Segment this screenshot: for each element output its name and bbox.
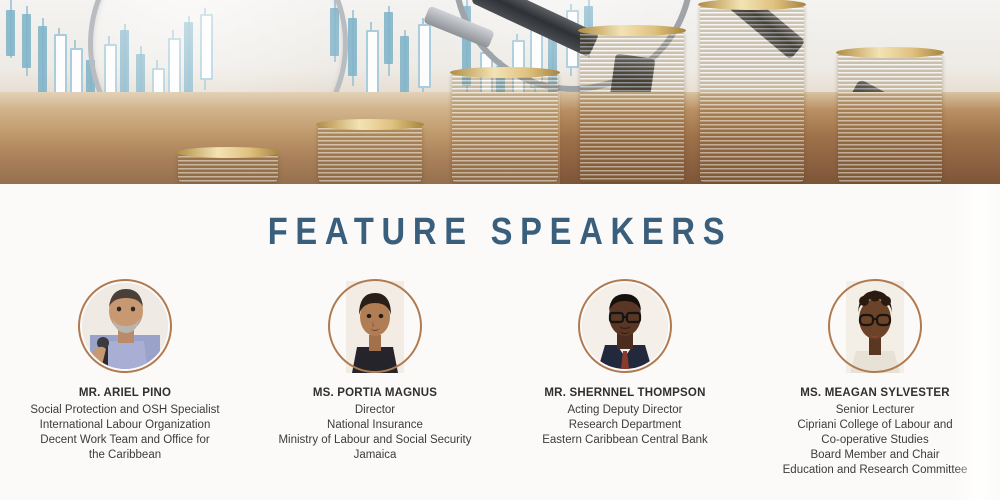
speaker-name: MR. SHERNNEL THOMPSON <box>503 386 748 401</box>
portrait-portia-magnus <box>346 281 404 373</box>
speaker-affiliation-line: Co-operative Studies <box>753 433 998 448</box>
speaker-affiliation-line: International Labour Organization <box>3 418 248 433</box>
speaker-affiliation-line: the Caribbean <box>3 448 248 463</box>
speaker-affiliation-line: Senior Lecturer <box>753 403 998 418</box>
speaker-affiliation-line: Eastern Caribbean Central Bank <box>503 433 748 448</box>
speaker-affiliation-line: Research Department <box>503 418 748 433</box>
page-title: FEATURE SPEAKERS <box>70 211 930 254</box>
speaker-affiliation-line: Social Protection and OSH Specialist <box>3 403 248 418</box>
speakers-list: MR. ARIEL PINO Social Protection and OSH… <box>0 279 1000 478</box>
portrait-ariel-pino <box>82 283 168 369</box>
speaker-affiliation-line: Ministry of Labour and Social Security <box>253 433 498 448</box>
avatar <box>328 279 422 373</box>
speaker-affiliation-line: Jamaica <box>253 448 498 463</box>
speaker-affiliation: Director National Insurance Ministry of … <box>253 403 498 463</box>
speaker-affiliation: Senior Lecturer Cipriani College of Labo… <box>753 403 998 478</box>
coin-stack-icon <box>580 30 684 182</box>
speaker-affiliation-line: Board Member and Chair <box>753 448 998 463</box>
content-area: FEATURE SPEAKERS <box>0 184 1000 500</box>
feature-speakers-poster: FEATURE SPEAKERS <box>0 0 1000 500</box>
speaker-affiliation: Acting Deputy Director Research Departme… <box>503 403 748 448</box>
speaker-affiliation-line: Education and Research Committee <box>753 463 998 478</box>
portrait-shernnel-thompson <box>582 283 668 369</box>
banner-photo <box>0 0 1000 184</box>
speaker-card: MR. SHERNNEL THOMPSON Acting Deputy Dire… <box>503 279 748 448</box>
speaker-affiliation-line: Acting Deputy Director <box>503 403 748 418</box>
speaker-affiliation-line: Decent Work Team and Office for <box>3 433 248 448</box>
speaker-affiliation-line: Cipriani College of Labour and <box>753 418 998 433</box>
avatar <box>578 279 672 373</box>
speaker-affiliation-line: National Insurance <box>253 418 498 433</box>
speaker-affiliation: Social Protection and OSH Specialist Int… <box>3 403 248 463</box>
avatar <box>78 279 172 373</box>
coin-stack-icon <box>700 4 804 182</box>
speaker-name: MR. ARIEL PINO <box>3 386 248 401</box>
speaker-card: MR. ARIEL PINO Social Protection and OSH… <box>3 279 248 463</box>
coin-stack-icon <box>452 72 558 182</box>
speaker-card: MS. MEAGAN SYLVESTER Senior Lecturer Cip… <box>753 279 998 478</box>
coin-stack-icon <box>318 124 422 182</box>
speaker-affiliation-line: Director <box>253 403 498 418</box>
speaker-card: MS. PORTIA MAGNUS Director National Insu… <box>253 279 498 463</box>
coin-stack-icon <box>178 152 278 182</box>
portrait-meagan-sylvester <box>846 281 904 373</box>
speaker-name: MS. PORTIA MAGNUS <box>253 386 498 401</box>
avatar <box>828 279 922 373</box>
speaker-name: MS. MEAGAN SYLVESTER <box>753 386 998 401</box>
coin-stack-icon <box>838 52 942 182</box>
